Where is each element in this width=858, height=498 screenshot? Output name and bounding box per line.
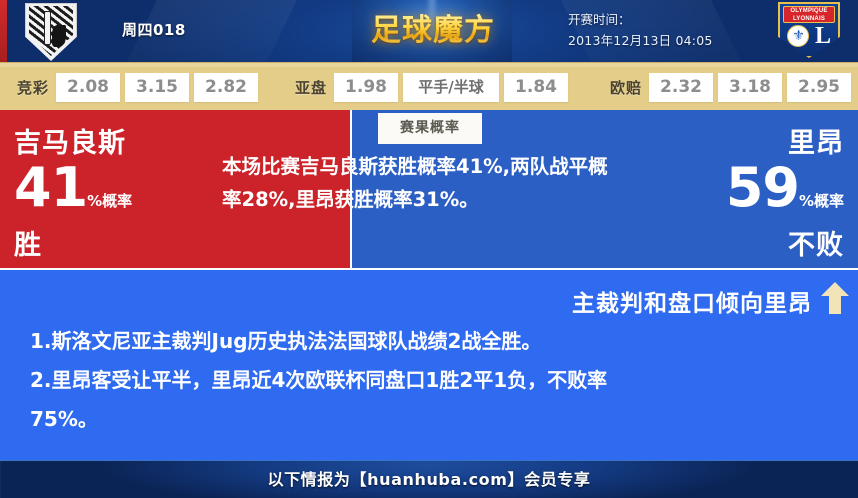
odds-cell-away[interactable]: 2.95 bbox=[787, 73, 851, 102]
lion-icon: ⚜ bbox=[791, 28, 806, 44]
analysis-line: 2.里昂客受让平半，里昂近4次欧联杯同盘口1胜2平1负，不败率 bbox=[30, 361, 830, 400]
odds-group-label: 竞彩 bbox=[17, 77, 49, 98]
away-probability-block: 里昂 59%概率 不败 bbox=[644, 128, 844, 262]
arrow-stem bbox=[829, 294, 841, 314]
odds-cell-away[interactable]: 2.82 bbox=[194, 73, 258, 102]
odds-cell-home[interactable]: 2.08 bbox=[56, 73, 120, 102]
analysis-body: 1.斯洛文尼亚主裁判Jug历史执法法国球队战绩2战全胜。 2.里昂客受让平半，里… bbox=[30, 322, 830, 439]
kickoff-time: 2013年12月13日 04:05 bbox=[568, 30, 758, 51]
odds-group-asian-handicap: 亚盘 1.98 平手/半球 1.84 bbox=[295, 63, 573, 111]
odds-cell-handicap[interactable]: 平手/半球 bbox=[403, 73, 499, 102]
away-team-crest-icon: OLYMPIQUE LYONNAIS ⚜ L bbox=[778, 2, 840, 62]
footer-bar: 以下情报为【huanhuba.com】会员专享 bbox=[0, 460, 858, 498]
arrow-up-icon bbox=[820, 282, 850, 314]
tab-result-probability[interactable]: 赛果概率 bbox=[378, 113, 482, 144]
odds-cell-draw[interactable]: 3.15 bbox=[125, 73, 189, 102]
probability-summary-text: 本场比赛吉马良斯获胜概率41%,两队战平概率28%,里昂获胜概率31%。 bbox=[222, 150, 622, 216]
footer-membership-note: 以下情报为【huanhuba.com】会员专享 bbox=[0, 461, 858, 498]
analysis-section: 主裁判和盘口倾向里昂 1.斯洛文尼亚主裁判Jug历史执法法国球队战绩2战全胜。 … bbox=[0, 270, 858, 460]
crest-figure-knight bbox=[52, 25, 66, 47]
odds-group-jingcai: 竞彩 2.08 3.15 2.82 bbox=[17, 63, 263, 111]
odds-group-label: 亚盘 bbox=[295, 77, 327, 98]
match-round-label: 周四018 bbox=[122, 19, 186, 40]
odds-group-european: 欧赔 2.32 3.18 2.95 bbox=[610, 63, 856, 111]
home-probability-number: 41 bbox=[14, 156, 87, 219]
away-outcome-label: 不败 bbox=[644, 230, 844, 262]
odds-cell-home[interactable]: 2.32 bbox=[649, 73, 713, 102]
away-probability-number: 59 bbox=[726, 156, 799, 219]
odds-cell-draw[interactable]: 3.18 bbox=[718, 73, 782, 102]
away-team-name: 里昂 bbox=[644, 128, 844, 159]
match-preview-graphic: 周四018 足球魔方 开赛时间： 2013年12月13日 04:05 OLYMP… bbox=[0, 0, 858, 498]
odds-cell-home[interactable]: 1.98 bbox=[334, 73, 398, 102]
header-bar: 周四018 足球魔方 开赛时间： 2013年12月13日 04:05 OLYMP… bbox=[0, 0, 858, 62]
home-outcome-label: 胜 bbox=[14, 230, 194, 262]
home-team-name: 吉马良斯 bbox=[14, 128, 194, 159]
analysis-line: 1.斯洛文尼亚主裁判Jug历史执法法国球队战绩2战全胜。 bbox=[30, 322, 830, 361]
home-probability-value-line: 41%概率 bbox=[14, 159, 194, 230]
home-probability-suffix: %概率 bbox=[87, 192, 132, 210]
header-red-edge bbox=[0, 0, 7, 62]
odds-bar: 竞彩 2.08 3.15 2.82 亚盘 1.98 平手/半球 1.84 欧赔 … bbox=[0, 62, 858, 110]
ol-crest-band: OLYMPIQUE LYONNAIS bbox=[783, 6, 835, 23]
home-team-crest-icon bbox=[25, 3, 77, 61]
away-probability-suffix: %概率 bbox=[799, 192, 844, 210]
crest-stripes bbox=[29, 6, 73, 56]
brand-logo: 足球魔方 bbox=[367, 11, 499, 51]
analysis-line: 75%。 bbox=[30, 400, 830, 439]
kickoff-label: 开赛时间： bbox=[568, 9, 758, 30]
away-probability-value-line: 59%概率 bbox=[644, 159, 844, 230]
odds-group-label: 欧赔 bbox=[610, 77, 642, 98]
kickoff-info: 开赛时间： 2013年12月13日 04:05 bbox=[568, 9, 758, 51]
odds-cell-away[interactable]: 1.84 bbox=[504, 73, 568, 102]
ol-crest-letter: L bbox=[811, 23, 835, 49]
arrow-head bbox=[821, 282, 849, 296]
crest-figure-tower bbox=[44, 11, 51, 45]
analysis-title: 主裁判和盘口倾向里昂 bbox=[572, 284, 812, 318]
home-probability-block: 吉马良斯 41%概率 胜 bbox=[14, 128, 194, 262]
